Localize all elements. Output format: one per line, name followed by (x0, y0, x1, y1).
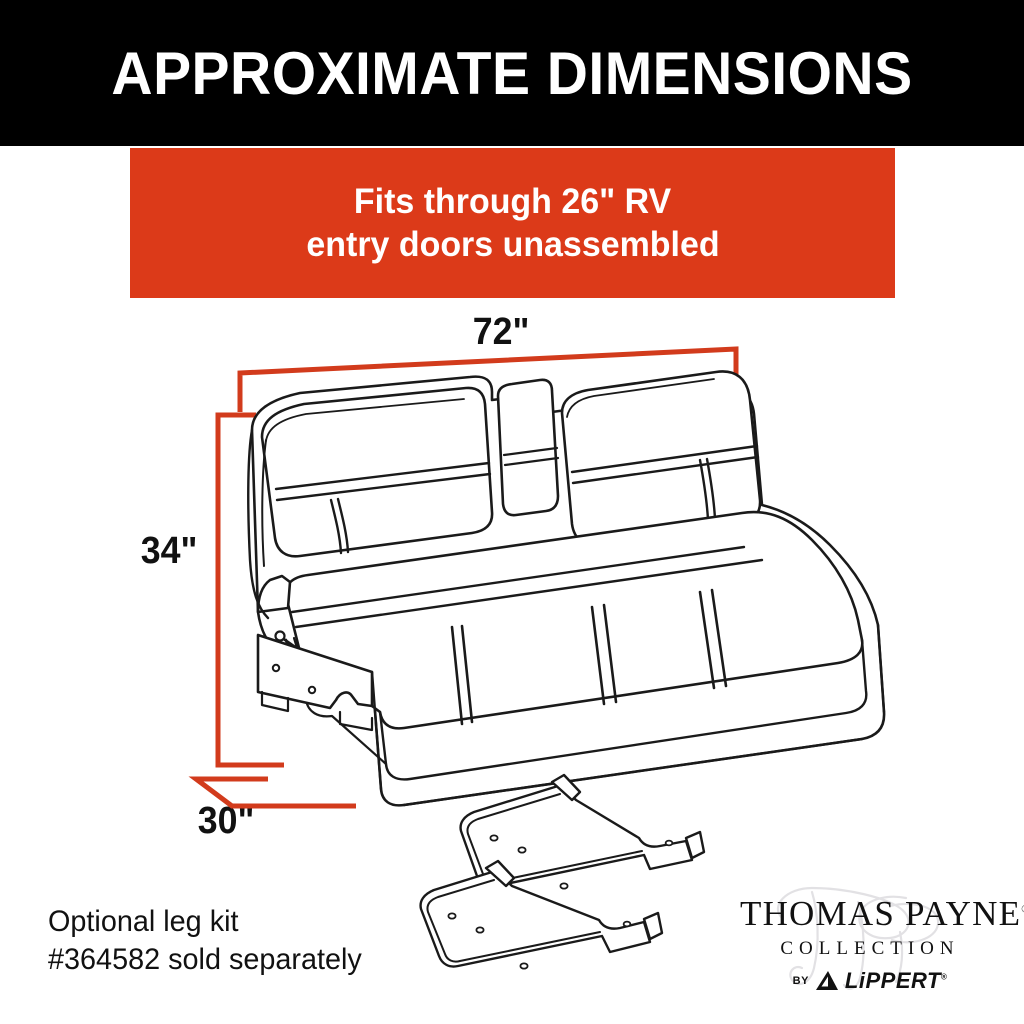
leg-bracket-lower (421, 861, 662, 969)
logo-by-row: BY LiPPERT® (740, 968, 1000, 994)
leg-kit-note-line-1: Optional leg kit (48, 903, 362, 941)
back-right-piping-a (572, 446, 757, 472)
linkage-arm-2 (286, 640, 308, 700)
depth-dimension-label: 30" (198, 800, 255, 843)
dimension-lines (196, 349, 736, 806)
lower-bracket-hole-4 (624, 922, 631, 927)
lower-bracket-tab-left-fold (498, 861, 514, 878)
base-plate-tab-left (262, 692, 288, 711)
seat-seam-1a (452, 627, 462, 724)
lower-bracket-inner-line (427, 880, 600, 962)
seat-seam-2b (604, 605, 616, 702)
logo-parent-brand: LiPPERT® (845, 968, 947, 994)
dimensions-infographic: APPROXIMATE DIMENSIONS Fits through 26" … (0, 0, 1024, 1024)
seat-seam-2a (592, 607, 604, 704)
leg-kit-note-line-2: #364582 sold separately (48, 941, 362, 979)
linkage-pivot-1 (276, 632, 285, 641)
linkage-arm-2b (294, 638, 316, 698)
page-title: APPROXIMATE DIMENSIONS (26, 0, 999, 146)
seat-seam-3a (700, 592, 714, 688)
seat-seam-3b (712, 590, 726, 686)
base-plate-tab-right (340, 712, 372, 730)
upper-bracket-tab-left-fold (564, 775, 580, 792)
back-right-channel-a (700, 460, 708, 520)
height-dimension-label: 34" (141, 530, 198, 573)
base-bottom-edge (404, 739, 862, 805)
base-right-edge (878, 625, 884, 712)
banner-line-2: entry doors unassembled (306, 223, 719, 266)
lower-bracket-hole-3 (520, 963, 527, 968)
width-dimension-label: 72" (473, 311, 530, 354)
side-frame-wing (258, 576, 290, 612)
back-middle-piping-b (505, 458, 558, 465)
leg-kit (421, 775, 704, 969)
seat-left-roll (300, 652, 386, 764)
back-left-piping-b (277, 474, 490, 500)
sofa-drawing (248, 371, 884, 805)
seat-front-roll (380, 640, 866, 779)
height-dimension-line (218, 415, 284, 765)
lower-bracket-body (421, 872, 650, 967)
upper-bracket-hole-4 (666, 841, 673, 846)
lower-bracket-hole-1 (448, 913, 455, 918)
base-left-edge (372, 672, 381, 789)
back-left-channel-a (331, 500, 341, 553)
back-left-piping-a (276, 463, 489, 489)
logo-by-text: BY (793, 975, 809, 987)
base-bolt-2 (309, 687, 315, 693)
seat-back-seam-b (296, 560, 762, 627)
back-middle-piping-a (504, 448, 557, 455)
banner-line-1: Fits through 26" RV (354, 180, 671, 223)
upper-bracket-hole-3 (560, 883, 567, 888)
fit-callout-banner: Fits through 26" RV entry doors unassemb… (130, 148, 895, 298)
upper-bracket-tab-right (686, 832, 704, 858)
lippert-chevron-icon (814, 970, 840, 992)
side-arm-outline (248, 430, 268, 618)
side-arm-inner (262, 440, 266, 566)
leg-bracket-upper (461, 775, 704, 889)
seat-seam-1b (462, 626, 472, 722)
back-cushion-left (262, 388, 492, 556)
logo-brand-name: THOMAS PAYNE® (740, 894, 1000, 934)
base-mounting-plate (258, 635, 372, 708)
base-bolt-1 (273, 665, 279, 671)
upper-bracket-hole-2 (518, 847, 525, 852)
upper-bracket-body (461, 786, 692, 887)
back-left-channel-b (338, 499, 348, 552)
upper-bracket-inner-line (467, 794, 642, 882)
linkage-arm-1 (278, 635, 332, 670)
back-cushion-middle (498, 380, 558, 515)
seat-back-seam-a (292, 547, 744, 612)
upper-bracket-tab-left (552, 775, 580, 800)
brand-logo: THOMAS PAYNE® COLLECTION BY LiPPERT® (740, 872, 1000, 997)
width-dimension-line (240, 349, 736, 412)
linkage-pivot-2 (316, 660, 325, 669)
back-cushion-left-top-seam (266, 399, 464, 441)
linkage-arm-1b (282, 643, 334, 677)
leg-kit-note: Optional leg kit #364582 sold separately (48, 903, 362, 979)
sofa-body-outline (252, 377, 884, 806)
lower-bracket-tab-left (486, 861, 514, 886)
back-cushion-right-top-seam (567, 379, 714, 417)
upper-bracket-hole-1 (490, 835, 497, 840)
seat-surface (286, 512, 863, 728)
logo-collection-text: COLLECTION (740, 938, 1000, 960)
lower-bracket-hole-2 (476, 927, 483, 932)
back-right-channel-b (707, 459, 715, 519)
lower-bracket-tab-right (644, 913, 662, 939)
back-cushion-right (562, 371, 760, 545)
back-right-piping-b (573, 457, 758, 483)
